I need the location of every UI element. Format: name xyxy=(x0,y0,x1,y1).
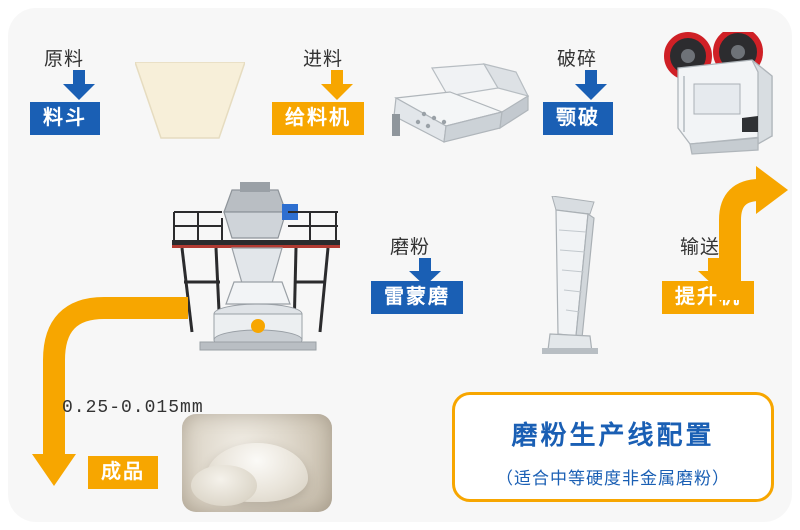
raymond-mill-icon xyxy=(170,182,360,362)
stage-tag-finished[interactable]: 成品 xyxy=(88,456,158,489)
arrow-down-raw-material xyxy=(62,70,96,100)
title-card-sub: （适合中等硬度非金属磨粉） xyxy=(455,464,771,489)
stage-tag-grinding[interactable]: 雷蒙磨 xyxy=(371,281,463,314)
stage-caption-feeding: 进料 xyxy=(303,44,343,71)
fineness-label: 0.25-0.015mm xyxy=(62,398,204,418)
stage-tag-crushing[interactable]: 颚破 xyxy=(543,102,613,135)
stage-caption-crushing: 破碎 xyxy=(557,44,597,71)
stage-caption-raw-material: 原料 xyxy=(44,44,84,71)
stage-caption-grinding: 磨粉 xyxy=(390,232,430,259)
title-card: 磨粉生产线配置 （适合中等硬度非金属磨粉） xyxy=(452,392,774,502)
stage-tag-feeding[interactable]: 给料机 xyxy=(272,102,364,135)
diagram-canvas: 原料 料斗 进料 给料机 破碎 颚破 xyxy=(0,0,800,530)
stage-tag-raw-material[interactable]: 料斗 xyxy=(30,102,100,135)
title-card-main: 磨粉生产线配置 xyxy=(455,415,771,452)
powder-pile-secondary xyxy=(191,465,257,506)
flow-arrow-right xyxy=(700,150,790,310)
jaw-crusher-icon xyxy=(660,32,785,157)
finished-product-photo xyxy=(182,414,332,512)
bucket-elevator-icon xyxy=(530,196,620,356)
vibrating-feeder-icon xyxy=(388,62,548,152)
hopper-icon xyxy=(135,62,245,140)
arrow-down-crushing xyxy=(574,70,608,100)
arrow-down-feeding xyxy=(320,70,354,100)
